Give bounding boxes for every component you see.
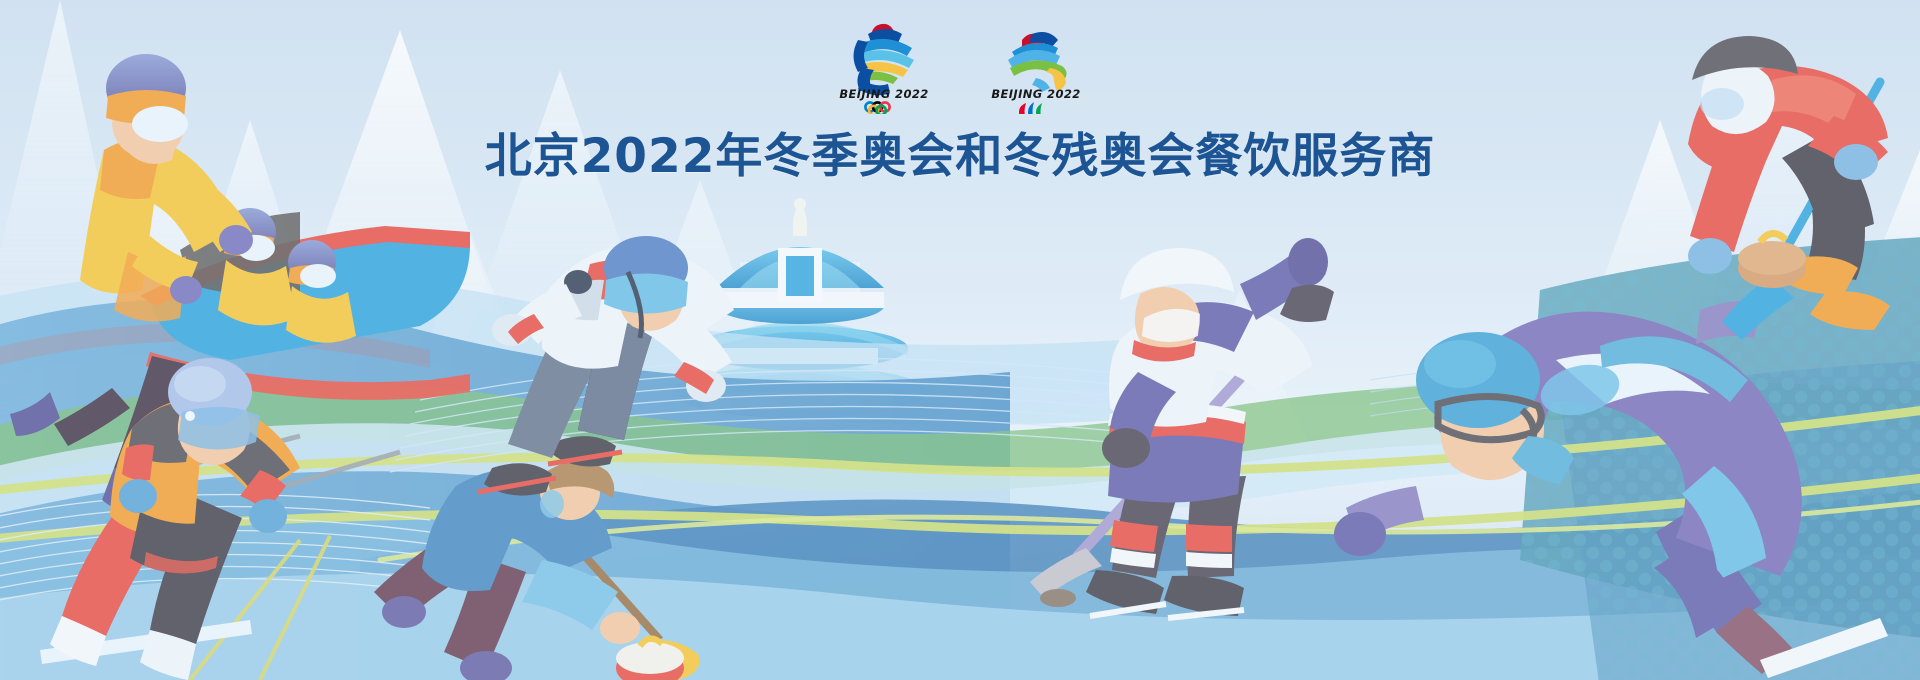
- beijing-2022-catering-banner: BEIJING 2022: [0, 0, 1920, 680]
- scene-light-wash: [0, 0, 1920, 680]
- banner-illustration: [0, 0, 1920, 680]
